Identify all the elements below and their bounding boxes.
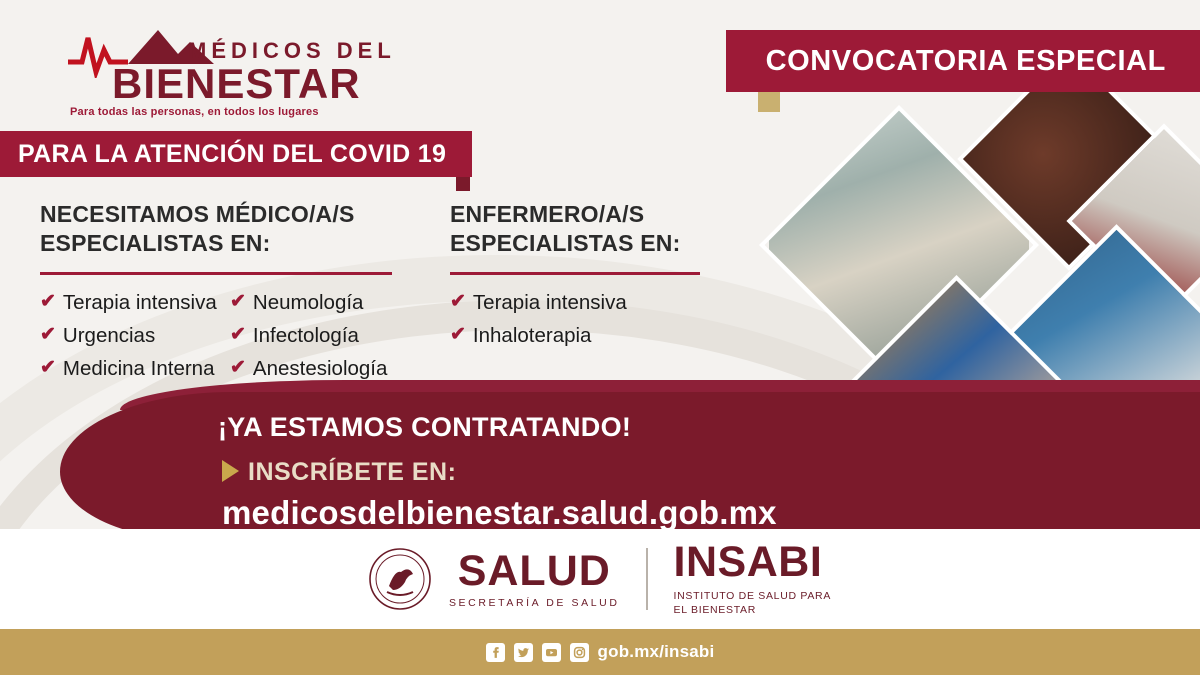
check-icon: ✔	[450, 324, 466, 346]
column-enfermeros-heading: ENFERMERO/A/S ESPECIALISTAS EN:	[450, 200, 750, 258]
footer: SALUD SECRETARÍA DE SALUD INSABI INSTITU…	[0, 529, 1200, 629]
check-icon: ✔	[450, 291, 466, 313]
check-icon: ✔	[40, 357, 56, 379]
heading-line-1: ENFERMERO/A/S	[450, 200, 750, 229]
hiring-text: ¡YA ESTAMOS CONTRATANDO!	[218, 412, 631, 443]
medicos-group-right: ✔ Neumología ✔ Infectología ✔ Anestesiol…	[230, 291, 420, 390]
twitter-icon[interactable]	[514, 643, 533, 662]
list-item-label: Terapia intensiva	[473, 291, 627, 315]
column-medicos: NECESITAMOS MÉDICO/A/S ESPECIALISTAS EN:…	[40, 200, 420, 390]
instagram-icon[interactable]	[570, 643, 589, 662]
column-medicos-heading: NECESITAMOS MÉDICO/A/S ESPECIALISTAS EN:	[40, 200, 420, 258]
heading-line-1: NECESITAMOS MÉDICO/A/S	[40, 200, 420, 229]
salud-logo: SALUD SECRETARÍA DE SALUD	[449, 550, 620, 609]
social-handle: gob.mx/insabi	[598, 642, 715, 662]
list-item-label: Neumología	[253, 291, 364, 315]
list-item-label: Terapia intensiva	[63, 291, 217, 315]
title-bar-label: PARA LA ATENCIÓN DEL COVID 19	[18, 140, 446, 169]
list-item-label: Medicina Interna	[63, 357, 215, 381]
play-triangle-icon	[222, 460, 239, 482]
column-medicos-items: ✔ Terapia intensiva ✔ Urgencias ✔ Medici…	[40, 291, 420, 390]
list-item: ✔ Inhaloterapia	[450, 324, 750, 348]
heading-line-2: ESPECIALISTAS EN:	[40, 229, 420, 258]
website-url[interactable]: medicosdelbienestar.salud.gob.mx	[222, 494, 777, 532]
list-item: ✔ Anestesiología	[230, 357, 420, 381]
salud-wordmark: SALUD	[458, 550, 611, 593]
list-item-label: Urgencias	[63, 324, 155, 348]
mexico-coat-of-arms-icon	[369, 548, 431, 610]
column-enfermeros-items: ✔ Terapia intensiva ✔ Inhaloterapia	[450, 291, 750, 348]
list-item: ✔ Terapia intensiva	[450, 291, 750, 315]
list-item-label: Anestesiología	[253, 357, 387, 381]
medicos-group-left: ✔ Terapia intensiva ✔ Urgencias ✔ Medici…	[40, 291, 230, 390]
list-item-label: Infectología	[253, 324, 359, 348]
social-bar: gob.mx/insabi	[0, 629, 1200, 675]
list-item: ✔ Infectología	[230, 324, 420, 348]
list-item-label: Inhaloterapia	[473, 324, 592, 348]
subscribe-text: INSCRÍBETE EN:	[248, 458, 456, 487]
insabi-subtitle: INSTITUTO DE SALUD PARA EL BIENESTAR	[674, 589, 832, 617]
facebook-icon[interactable]	[486, 643, 505, 662]
poster-root: CONVOCATORIA ESPECIAL MÉDICOS DEL BIENES…	[0, 0, 1200, 675]
list-item: ✔ Terapia intensiva	[40, 291, 230, 315]
check-icon: ✔	[40, 291, 56, 313]
list-item: ✔ Medicina Interna	[40, 357, 230, 381]
youtube-icon[interactable]	[542, 643, 561, 662]
column-enfermeros: ENFERMERO/A/S ESPECIALISTAS EN: ✔ Terapi…	[450, 200, 750, 357]
column-medicos-rule	[40, 272, 392, 275]
logo-tagline: Para todas las personas, en todos los lu…	[70, 106, 319, 118]
column-enfermeros-rule	[450, 272, 700, 275]
check-icon: ✔	[230, 324, 246, 346]
logo: MÉDICOS DEL BIENESTAR Para todas las per…	[66, 18, 396, 123]
social-icons	[486, 643, 589, 662]
list-item: ✔ Urgencias	[40, 324, 230, 348]
insabi-subtitle-line-2: EL BIENESTAR	[674, 603, 832, 617]
insabi-subtitle-line-1: INSTITUTO DE SALUD PARA	[674, 589, 832, 603]
check-icon: ✔	[40, 324, 56, 346]
check-icon: ✔	[230, 291, 246, 313]
footer-divider	[646, 548, 648, 610]
insabi-logo: INSABI INSTITUTO DE SALUD PARA EL BIENES…	[674, 541, 832, 617]
salud-subtitle: SECRETARÍA DE SALUD	[449, 597, 620, 609]
insabi-wordmark: INSABI	[674, 541, 832, 584]
logo-main-word: BIENESTAR	[112, 60, 361, 108]
special-call-banner: CONVOCATORIA ESPECIAL	[726, 30, 1200, 92]
check-icon: ✔	[230, 357, 246, 379]
list-item: ✔ Neumología	[230, 291, 420, 315]
heading-line-2: ESPECIALISTAS EN:	[450, 229, 750, 258]
title-bar: PARA LA ATENCIÓN DEL COVID 19	[0, 131, 472, 177]
banner-label: CONVOCATORIA ESPECIAL	[766, 45, 1166, 78]
